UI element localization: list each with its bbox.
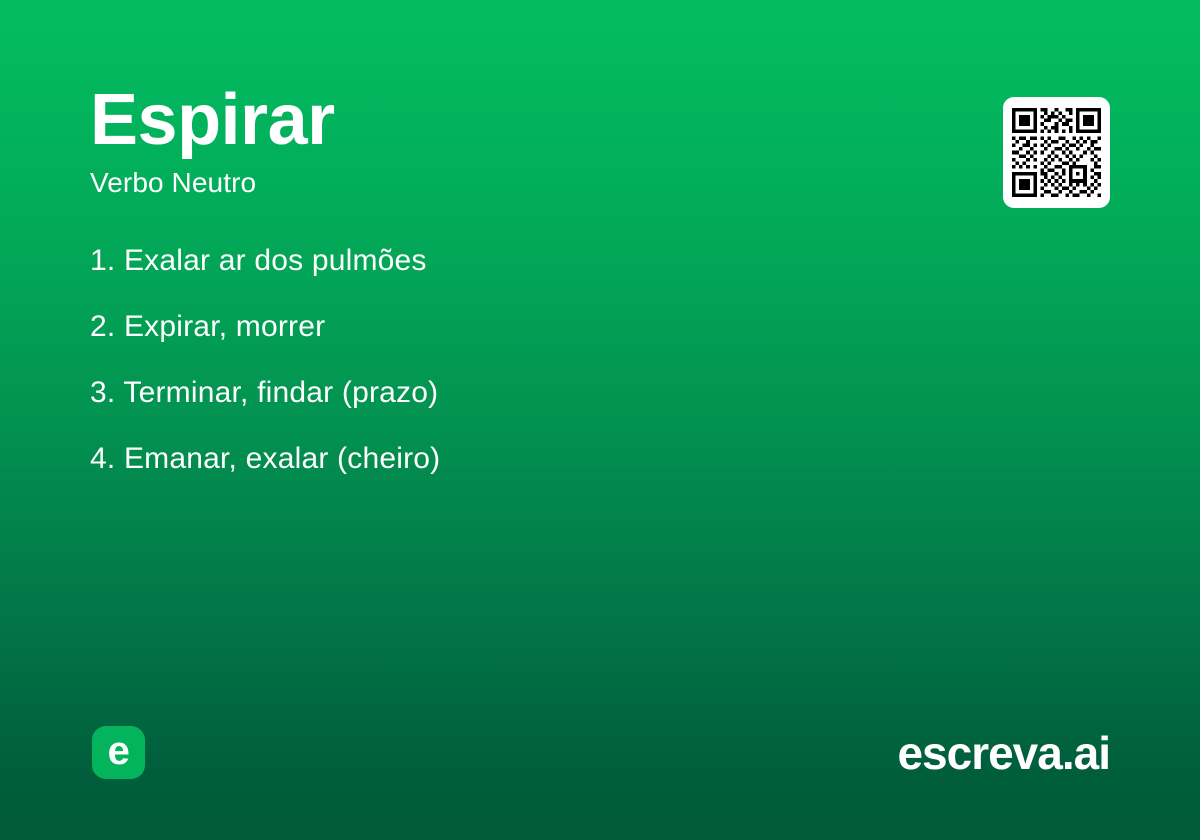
list-item: 2. Expirar, morrer <box>90 312 990 342</box>
list-item: 3. Terminar, findar (prazo) <box>90 378 990 408</box>
qr-code-icon <box>1012 108 1101 197</box>
definition-list: 1. Exalar ar dos pulmões 2. Expirar, mor… <box>90 246 990 474</box>
qr-code[interactable] <box>1003 97 1110 208</box>
list-item: 4. Emanar, exalar (cheiro) <box>90 444 990 474</box>
list-item: 1. Exalar ar dos pulmões <box>90 246 990 276</box>
logo-letter: e <box>108 731 130 771</box>
card-header: Espirar Verbo Neutro <box>90 84 910 199</box>
page-title: Espirar <box>90 84 910 156</box>
word-definition-card: Espirar Verbo Neutro <box>0 0 1200 840</box>
brand-wordmark: escreva.ai <box>897 726 1110 779</box>
escreva-logo-icon: e <box>92 726 145 779</box>
word-class-label: Verbo Neutro <box>90 168 910 199</box>
